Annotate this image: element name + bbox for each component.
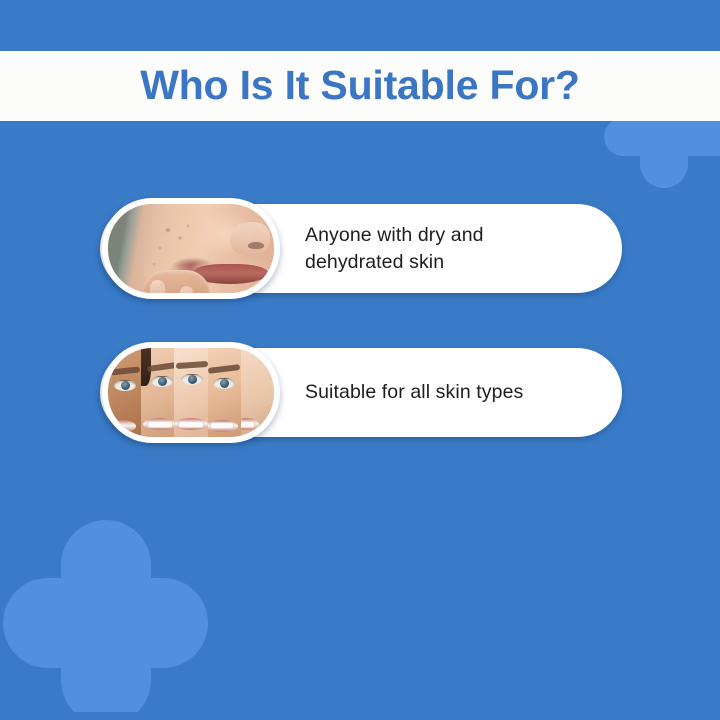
face-strip-1: [108, 348, 141, 437]
all-skin-types-photo: [108, 348, 274, 437]
card-2-thumbnail: [102, 342, 280, 443]
suitability-card-1[interactable]: Anyone with dry and dehydrated skin: [100, 204, 622, 293]
card-1-text: Anyone with dry and dehydrated skin: [305, 204, 592, 293]
nostril-shape: [248, 242, 264, 249]
teeth: [210, 422, 234, 429]
page-title: Who Is It Suitable For?: [140, 65, 580, 108]
eye: [114, 380, 136, 391]
slide-canvas: Who Is It Suitable For? Anyone with dry …: [0, 0, 720, 720]
cheek-skin-image: [108, 204, 274, 293]
card-2-text-line-1: Suitable for all skin types: [305, 379, 592, 406]
teeth: [241, 421, 255, 428]
card-2-text: Suitable for all skin types: [305, 348, 592, 437]
cross-horizontal-bar: [3, 578, 208, 668]
card-1-text-line-1: Anyone with dry and: [305, 222, 592, 249]
dry-dehydrated-skin-photo: [108, 204, 274, 293]
face-strip-3: [174, 348, 207, 437]
face-strip-4: [208, 348, 241, 437]
cross-vertical-bar: [61, 520, 151, 720]
faces-collage-image: [108, 348, 274, 437]
cross-bottom-left-icon: [3, 520, 208, 720]
eye: [213, 378, 235, 389]
face-strip-2: [141, 348, 174, 437]
fingernail-shape: [150, 280, 165, 293]
teeth: [147, 421, 173, 428]
suitability-card-2[interactable]: Suitable for all skin types: [100, 348, 622, 437]
lips: [108, 420, 136, 432]
bottom-strip: [0, 712, 720, 720]
cross-top-right-icon: [604, 118, 720, 190]
card-1-text-line-2: dehydrated skin: [305, 249, 592, 276]
teeth: [178, 421, 204, 428]
header-banner: Who Is It Suitable For?: [0, 51, 720, 121]
card-1-thumbnail: [102, 198, 280, 299]
nose-shape: [230, 222, 270, 256]
fingernail-shape-2: [180, 286, 193, 293]
cross-vertical-bar: [640, 118, 688, 188]
face-strip-5: [241, 348, 274, 437]
cross-horizontal-bar: [604, 118, 720, 156]
